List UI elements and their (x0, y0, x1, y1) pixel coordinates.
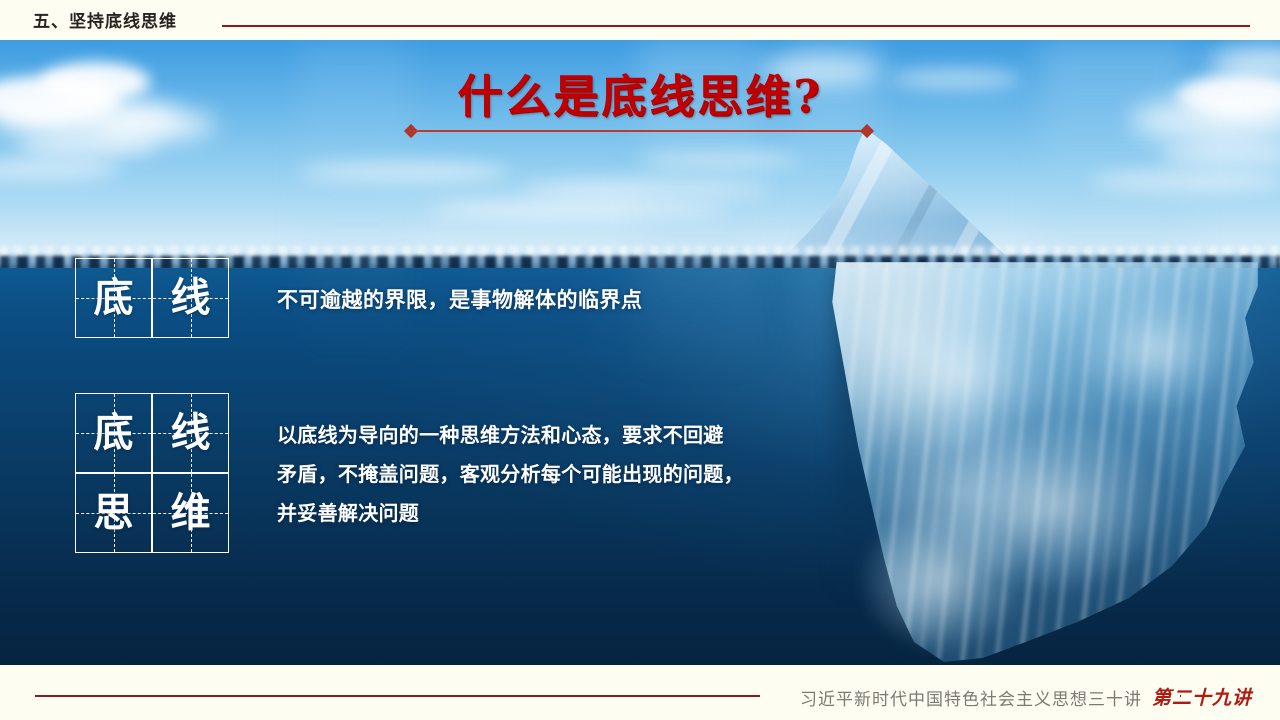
light-ray (640, 40, 760, 437)
cloud-icon (40, 62, 150, 102)
header-divider (222, 25, 1250, 27)
definition-line: 并妥善解决问题 (277, 494, 857, 533)
grid-cell: 思 (75, 473, 152, 553)
character-grid-bottom-line: 底 线 (75, 258, 229, 338)
diamond-marker-right-icon (860, 124, 874, 138)
character-grid-bottom-line-thinking: 底 线 思 维 (75, 393, 229, 553)
title-underline (404, 125, 874, 137)
grid-char: 底 (94, 413, 134, 453)
grid-char: 底 (94, 278, 134, 318)
definition-line: 以底线为导向的一种思维方法和心态，要求不回避 (277, 416, 857, 455)
light-ray (300, 40, 410, 437)
definition-line: 矛盾，不掩盖问题，客观分析每个可能出现的问题， (277, 455, 857, 494)
section-label: 五、坚持底线思维 (33, 7, 177, 32)
cloud-icon (890, 70, 1020, 88)
bottom-line-definition: 不可逾越的界限，是事物解体的临界点 (277, 284, 643, 314)
grid-cell: 线 (152, 258, 229, 338)
footer-lecture-number: 第二十九讲 (1152, 683, 1252, 710)
footer-book-title: 习近平新时代中国特色社会主义思想三十讲 (800, 685, 1142, 710)
grid-cell: 线 (152, 393, 229, 473)
slide-footer: 习近平新时代中国特色社会主义思想三十讲 第二十九讲 (0, 665, 1280, 720)
title-underline-bar (410, 130, 868, 132)
grid-char: 思 (94, 493, 134, 533)
ice-wisp (860, 510, 1020, 650)
ice-wisp (1080, 290, 1230, 410)
grid-char: 线 (171, 278, 211, 318)
grid-cell: 维 (152, 473, 229, 553)
grid-char: 线 (171, 413, 211, 453)
grid-cell: 底 (75, 258, 152, 338)
bottom-line-thinking-definition: 以底线为导向的一种思维方法和心态，要求不回避 矛盾，不掩盖问题，客观分析每个可能… (277, 416, 857, 533)
cloud-icon (96, 110, 216, 140)
slide-header: 五、坚持底线思维 (0, 0, 1280, 40)
grid-char: 维 (171, 493, 211, 533)
slide: 五、坚持底线思维 (0, 0, 1280, 720)
grid-cell: 底 (75, 393, 152, 473)
